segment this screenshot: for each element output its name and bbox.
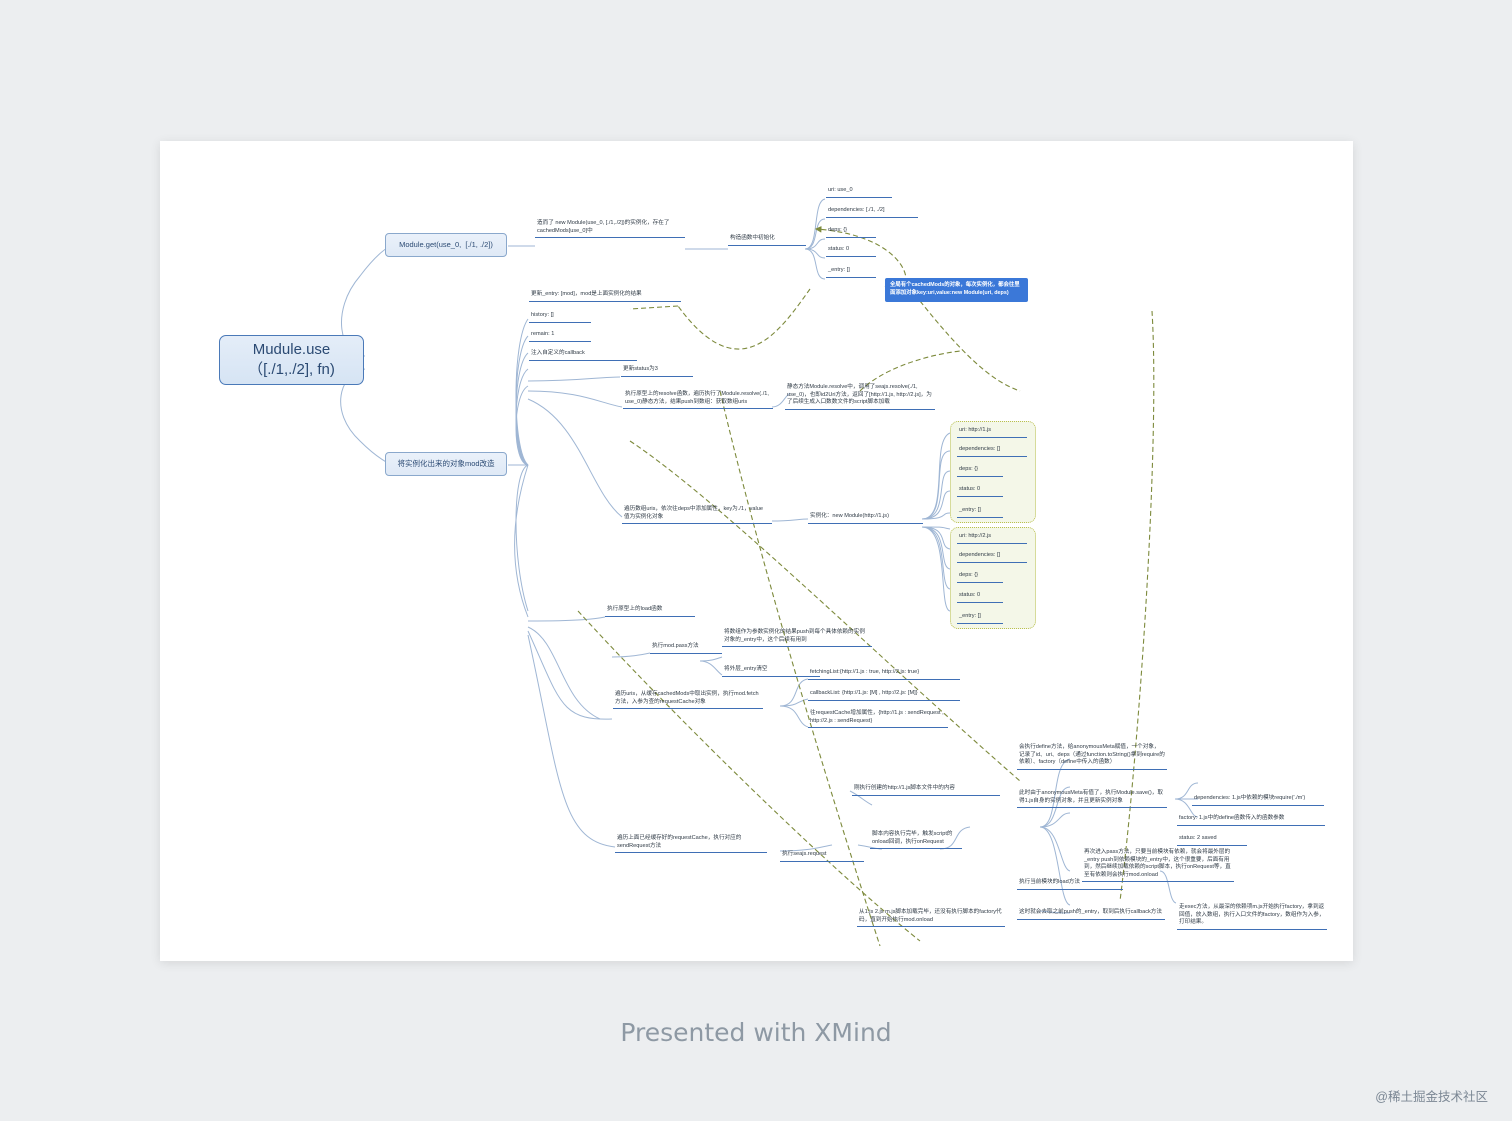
topic-all-scripts-loaded[interactable]: 从1.js 2.js m.js脚本加载完毕，还没有执行脚本的factory代码，… [857, 909, 1005, 927]
attr-uri[interactable]: uri: http://1.js [957, 427, 1027, 438]
topic-request-cache[interactable]: 往requestCache增加属性，{http://1.js : sendReq… [808, 710, 948, 728]
topic-define[interactable]: 会执行define方法，给anonymousMeta赋值，一个对象，记录了id、… [1017, 744, 1167, 770]
attr-status[interactable]: status: 0 [826, 246, 876, 257]
attr-status-2-saved[interactable]: status: 2 saved [1177, 835, 1247, 846]
attr-status[interactable]: status: 0 [957, 486, 1003, 497]
attr-dependencies[interactable]: dependencies: [] [957, 552, 1027, 563]
topic-resolve[interactable]: 执行原型上的resolve函数，遍历执行了Module.resolve(./1,… [623, 391, 773, 409]
topic-onrequest[interactable]: 脚本内容执行完毕，触发script的onload回调，执行onRequest [870, 831, 962, 849]
branch-module-get[interactable]: Module.get(use_0, [./1, ./2]) [385, 233, 507, 257]
topic-pass-detail[interactable]: 将数组作为参数实例化的结果push到每个具体依赖的实例对象的_entry中，这个… [722, 629, 872, 647]
topic-remain[interactable]: remain: 1 [529, 331, 591, 342]
attr-deps[interactable]: deps: {} [826, 227, 876, 238]
topic-seajs-request[interactable]: 执行seajs.request [780, 851, 864, 862]
attr-uri[interactable]: uri: use_0 [826, 187, 892, 198]
topic-exec-factory[interactable]: 走exec方法，从最深的依赖项m.js开始执行factory，拿到返回值，放入数… [1177, 904, 1327, 930]
topic-fetching-list[interactable]: fetchingList:{http://1.js : true, http:/… [808, 669, 960, 680]
attr-dependencies-1js[interactable]: dependencies: 1.js中依赖的模块require('./m') [1192, 795, 1324, 806]
topic-exec-script[interactable]: 刚执行创建的http://1.js脚本文件中的内容 [852, 785, 1000, 796]
topic-mod-pass[interactable]: 执行mod.pass方法 [650, 643, 722, 654]
attr-entry[interactable]: _entry: [] [826, 267, 876, 278]
topic-load-current-module[interactable]: 执行当前模块的load方法 [1017, 879, 1123, 890]
attr-dependencies[interactable]: dependencies: [./1, ./2] [826, 207, 918, 218]
topic-resolve-detail[interactable]: 静态方法Module.resolve中，调用了seajs.resolve(./1… [785, 384, 935, 410]
topic-new-module[interactable]: 造而了 new Module(use_0, [./1,./2])的实例化，存在了… [535, 220, 685, 238]
topic-callback-exec[interactable]: 这时就会去取之前push的_entry，取到后执行callback方法 [1017, 909, 1165, 920]
topic-inject-callback[interactable]: 注入自定义的callback [529, 350, 637, 361]
topic-constructor-init[interactable]: 构造函数中初始化 [728, 235, 806, 246]
branch-transform-mod[interactable]: 将实例化出来的对象mod改造 [385, 452, 507, 476]
credit-text: @稀土掘金技术社区 [1375, 1086, 1488, 1105]
topic-fetch[interactable]: 遍历uris，从缓存cachedMods中取出实例，执行mod.fetch方法，… [613, 691, 763, 709]
attr-deps[interactable]: deps: {} [957, 466, 1003, 477]
topic-traverse-uris[interactable]: 遍历数组uris，依次往deps中添加属性，key为./1，value 值为实例… [622, 506, 772, 524]
root-node[interactable]: Mudule.use（[./1,./2], fn) [219, 335, 364, 385]
attr-entry[interactable]: _entry: [] [957, 613, 1003, 624]
watermark-text: Presented with XMind [0, 1018, 1512, 1047]
topic-load[interactable]: 执行原型上的load函数 [605, 606, 695, 617]
attr-factory-1js[interactable]: factory: 1.js中的define函数传入的函数参数 [1177, 815, 1325, 826]
topic-send-request[interactable]: 遍历上面已经缓存好的requestCache，执行对应的sendRequest方… [615, 835, 767, 853]
attr-status[interactable]: status: 0 [957, 592, 1003, 603]
branch-label: 将实例化出来的对象mod改造 [397, 459, 494, 469]
topic-history[interactable]: history: [] [529, 312, 591, 323]
attr-dependencies[interactable]: dependencies: [] [957, 446, 1027, 457]
callout-cachedmods[interactable]: 全局有个cachedMods的对象，每次实例化，都会往里面添加对象key:uri… [885, 278, 1028, 302]
attr-uri[interactable]: uri: http://2.js [957, 533, 1027, 544]
root-label: Mudule.use（[./1,./2], fn) [228, 340, 355, 381]
mindmap-canvas: Mudule.use（[./1,./2], fn) Module.get(use… [160, 141, 1353, 961]
topic-instantiate-module[interactable]: 实例化：new Module(http://1.js) [808, 513, 923, 524]
attr-deps[interactable]: deps: {} [957, 572, 1003, 583]
topic-callback-list[interactable]: callbackList: {http://1.js: [M] , http:/… [808, 690, 960, 701]
topic-update-status3[interactable]: 更新status为3 [621, 366, 693, 377]
branch-label: Module.get(use_0, [./1, ./2]) [399, 240, 493, 250]
topic-clear-entry[interactable]: 将外层_entry清空 [722, 666, 820, 677]
topic-module-save[interactable]: 此时由于anonymousMeta有值了，执行Module.save()，取得1… [1017, 790, 1167, 808]
attr-entry[interactable]: _entry: [] [957, 507, 1003, 518]
topic-pass-again[interactable]: 再次进入pass方法，只要当前模块有依赖，就会将最外层的_entry push到… [1082, 849, 1234, 882]
topic-update-entry[interactable]: 更新_entry: [mod]，mod是上面实例化的结果 [529, 291, 681, 302]
